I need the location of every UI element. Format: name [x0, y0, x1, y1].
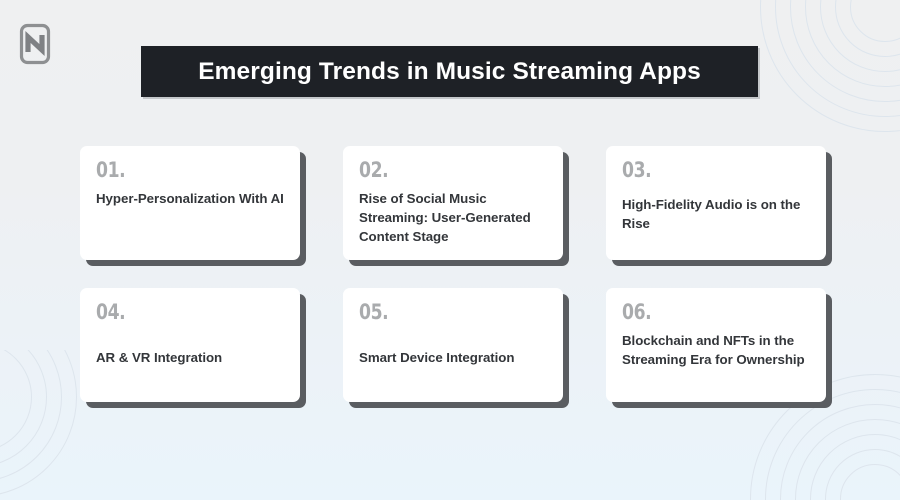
card-number: 06. — [622, 302, 776, 323]
brand-logo-icon — [19, 23, 51, 65]
card-title: Hyper-Personalization With AI — [96, 190, 284, 209]
card-title: Rise of Social Music Streaming: User-Gen… — [359, 190, 547, 247]
card-number: 03. — [622, 160, 776, 181]
card-title: High-Fidelity Audio is on the Rise — [622, 196, 810, 234]
card-title: Smart Device Integration — [359, 349, 547, 368]
trend-card-2[interactable]: 02. Rise of Social Music Streaming: User… — [343, 146, 563, 260]
card-number: 04. — [96, 302, 250, 323]
card-number: 05. — [359, 302, 513, 323]
card-title: Blockchain and NFTs in the Streaming Era… — [622, 332, 810, 370]
card-title: AR & VR Integration — [96, 349, 284, 368]
trend-card-6[interactable]: 06. Blockchain and NFTs in the Streaming… — [606, 288, 826, 402]
trend-card-1[interactable]: 01. Hyper-Personalization With AI — [80, 146, 300, 260]
card-number: 02. — [359, 160, 513, 181]
trend-card-4[interactable]: 04. AR & VR Integration — [80, 288, 300, 402]
trend-card-5[interactable]: 05. Smart Device Integration — [343, 288, 563, 402]
page-title: Emerging Trends in Music Streaming Apps — [198, 58, 701, 86]
card-number: 01. — [96, 160, 250, 181]
page-title-banner: Emerging Trends in Music Streaming Apps — [141, 46, 758, 97]
trends-card-grid: 01. Hyper-Personalization With AI 02. Ri… — [80, 146, 825, 402]
trend-card-3[interactable]: 03. High-Fidelity Audio is on the Rise — [606, 146, 826, 260]
